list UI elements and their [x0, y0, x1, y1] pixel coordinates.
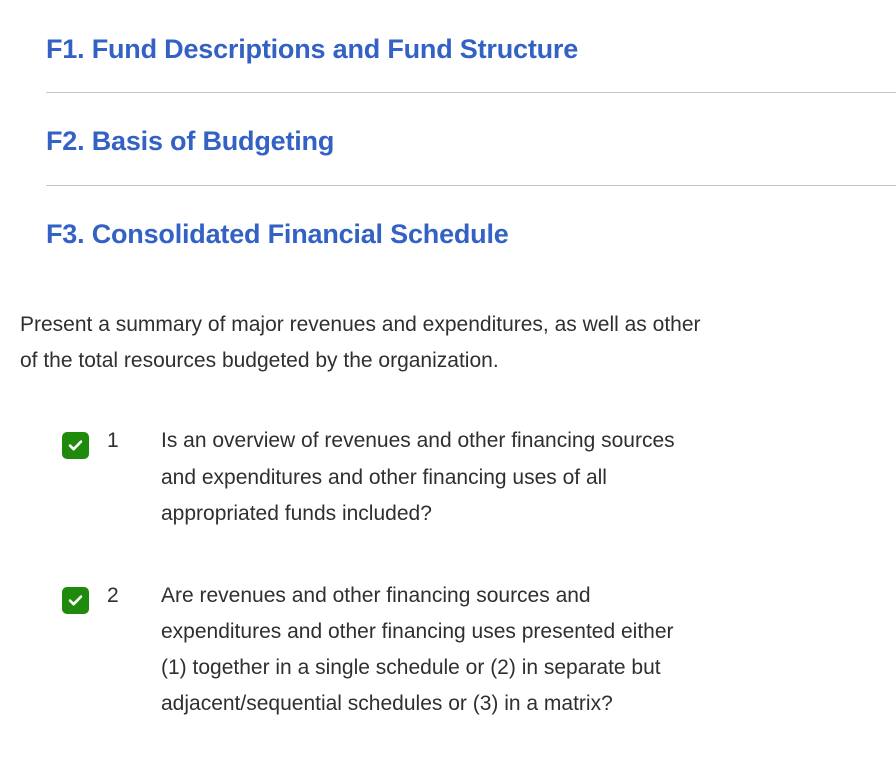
question-text-line: (1) together in a single schedule or (2)… [161, 650, 674, 686]
document-page: F1. Fund Descriptions and Fund Structure… [0, 0, 896, 778]
question-text-line: expenditures and other financing uses pr… [161, 614, 674, 650]
section-heading-f2[interactable]: F2. Basis of Budgeting [46, 125, 896, 157]
section-heading-f1[interactable]: F1. Fund Descriptions and Fund Structure [46, 33, 896, 65]
section-f2: F2. Basis of Budgeting [0, 93, 896, 157]
check-icon [67, 437, 84, 454]
question-text-line: and expenditures and other financing use… [161, 460, 675, 496]
intro-line-1: Present a summary of major revenues and … [20, 307, 896, 343]
intro-line-2: of the total resources budgeted by the o… [20, 343, 896, 379]
question-text-line: Is an overview of revenues and other fin… [161, 423, 675, 459]
question-checkbox[interactable] [62, 587, 89, 614]
question-checkbox[interactable] [62, 432, 89, 459]
section-heading-f3[interactable]: F3. Consolidated Financial Schedule [46, 218, 896, 250]
section-f3: F3. Consolidated Financial Schedule [0, 186, 896, 250]
question-item: 2 Are revenues and other financing sourc… [0, 578, 896, 722]
section-intro-text: Present a summary of major revenues and … [0, 250, 896, 379]
question-text: Is an overview of revenues and other fin… [161, 423, 675, 531]
question-text: Are revenues and other financing sources… [161, 578, 674, 722]
question-list: 1 Is an overview of revenues and other f… [0, 379, 896, 722]
question-text-line: appropriated funds included? [161, 496, 675, 532]
question-number: 1 [89, 423, 161, 459]
question-text-line: Are revenues and other financing sources… [161, 578, 674, 614]
question-item: 1 Is an overview of revenues and other f… [0, 423, 896, 531]
question-number: 2 [89, 578, 161, 614]
section-f1: F1. Fund Descriptions and Fund Structure [0, 0, 896, 65]
check-icon [67, 592, 84, 609]
question-text-line: adjacent/sequential schedules or (3) in … [161, 686, 674, 722]
